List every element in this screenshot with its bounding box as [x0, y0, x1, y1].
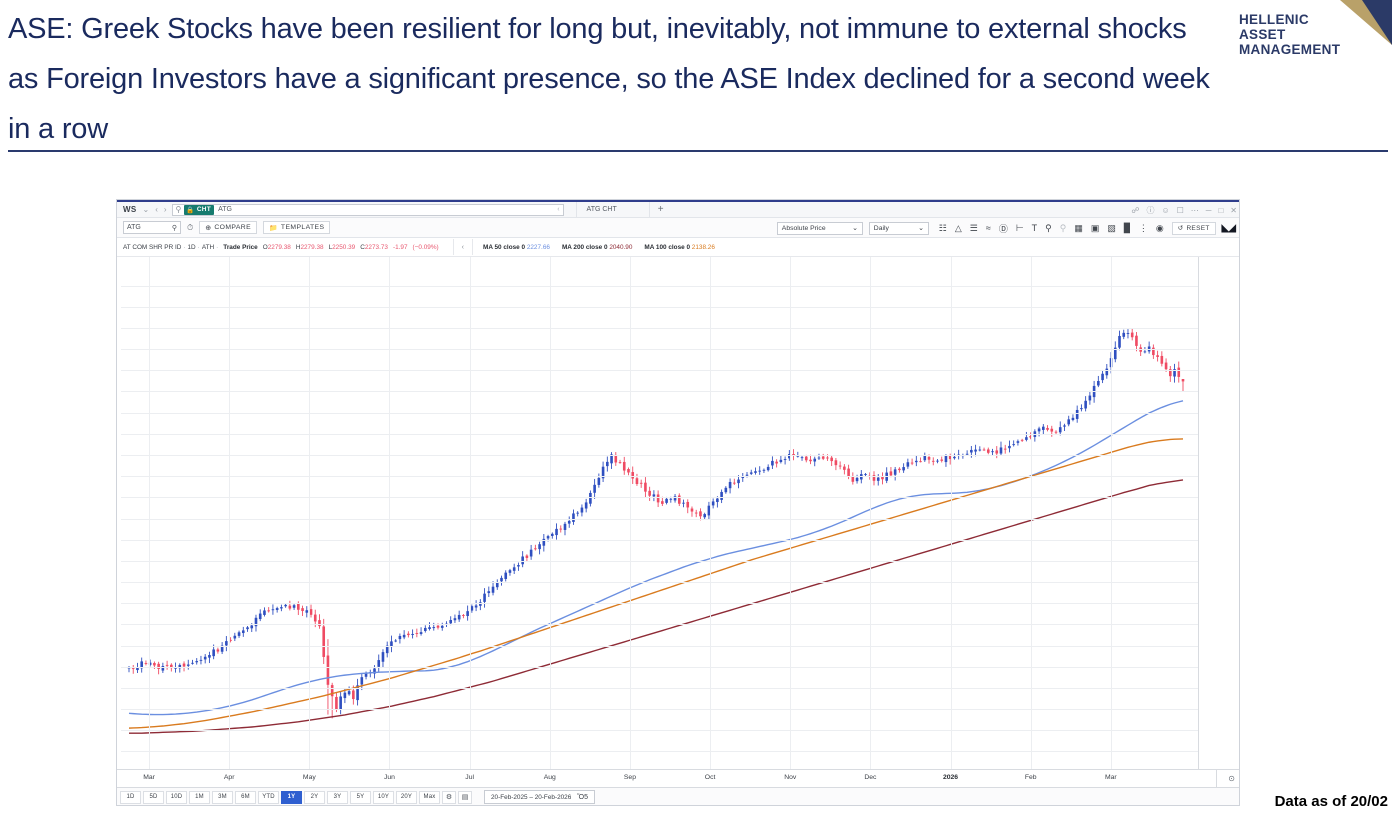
vertical-gridline: [1031, 257, 1032, 770]
logo-text: HELLENIC ASSET MANAGEMENT: [1239, 12, 1340, 57]
range-button-3y[interactable]: 3Y: [327, 791, 348, 804]
compare-button[interactable]: ⊕ COMPARE: [199, 221, 257, 234]
lock-icon: 🔒: [186, 206, 194, 214]
horizontal-gridline: [121, 497, 1199, 498]
range-button-max[interactable]: Max: [419, 791, 440, 804]
settings-icon[interactable]: ◉: [1152, 223, 1168, 234]
logo-wedge-navy-icon: [1362, 0, 1392, 45]
horizontal-gridline: [121, 688, 1199, 689]
time-tick-label: Jul: [465, 774, 474, 781]
time-axis[interactable]: ⊙ MarAprMayJunJulAugSepOctNovDec2026FebM…: [117, 769, 1240, 787]
close-value: C2273.73: [360, 244, 388, 251]
reset-icon: ↺: [1178, 224, 1184, 232]
chart-plot-area[interactable]: EUR ⌄ 2500.002450.002400.002350.002300.0…: [117, 256, 1240, 769]
address-caret-icon[interactable]: ‹: [557, 206, 559, 213]
candles-icon[interactable]: ☷: [935, 223, 951, 234]
link-icon[interactable]: ☍: [1131, 206, 1139, 215]
workspace-caret-icon[interactable]: ⌄: [140, 205, 153, 214]
horizontal-gridline: [121, 413, 1199, 414]
chart-svg: [121, 257, 1199, 770]
instrument-name: AT COM SHR PR ID: [123, 244, 181, 251]
help-icon[interactable]: ⓘ: [1146, 205, 1154, 216]
new-tab-button[interactable]: +: [649, 202, 672, 218]
forward-icon[interactable]: ›: [161, 205, 170, 214]
tab-atg-cht[interactable]: ATG CHT: [576, 202, 627, 218]
symbol-input[interactable]: ATG ⚲: [123, 221, 181, 234]
cht-badge-label: CHT: [197, 206, 211, 213]
logo: HELLENIC ASSET MANAGEMENT: [1235, 0, 1392, 62]
date-range-value: 20-Feb-2025 – 20-Feb-2026: [491, 794, 571, 801]
vertical-gridline: [870, 257, 871, 770]
range-button-1d[interactable]: 1D: [120, 791, 141, 804]
sep-3: ·: [216, 244, 218, 251]
slide-header: ASE: Greek Stocks have been resilient fo…: [0, 0, 1392, 155]
horizontal-gridline: [121, 370, 1199, 371]
calendar-layout-icon[interactable]: ▤: [458, 791, 472, 804]
vertical-gridline: [309, 257, 310, 770]
header-divider: [8, 150, 1388, 152]
chart-terminal-window: WS ⌄ ‹ › ⚲ 🔒 CHT ATG ‹ ATG CHT + ☍ ⓘ ☺ ☐…: [116, 199, 1240, 806]
data-as-of-note: Data as of 20/02: [1275, 793, 1388, 810]
zoom-in-icon[interactable]: ⚲: [1041, 223, 1056, 234]
frequency-value: Daily: [874, 225, 889, 232]
compare-icon: ⊕: [205, 224, 211, 232]
change-pct-value: (−0.09%): [413, 244, 439, 251]
interval-label: 1D: [188, 244, 196, 251]
sep-1: ·: [183, 244, 185, 251]
templates-button[interactable]: 📁 TEMPLATES: [263, 221, 330, 234]
chart-toolbar-right: Absolute Price ⌄ Daily ⌄ ☷ △ ☰ ≈ Ⓓ ⊢ T ⚲…: [777, 218, 1235, 238]
horizontal-gridline: [121, 751, 1199, 752]
address-symbol: ATG: [218, 206, 232, 213]
vertical-gridline: [389, 257, 390, 770]
range-button-5d[interactable]: 5D: [143, 791, 164, 804]
back-icon[interactable]: ‹: [152, 205, 161, 214]
ma200-legend: MA 200 close 0 2040.90: [562, 244, 632, 251]
window-controls: ☍ ⓘ ☺ ☐ ⋯ ─ □ ✕: [1131, 202, 1237, 218]
time-tick-label: Dec: [864, 774, 876, 781]
events-icon[interactable]: Ⓓ: [995, 222, 1012, 235]
horizontal-gridline: [121, 455, 1199, 456]
symbol-input-value: ATG: [127, 224, 141, 231]
workspace-label[interactable]: WS: [117, 205, 140, 214]
horizontal-gridline: [121, 540, 1199, 541]
reset-button[interactable]: ↺ RESET: [1172, 222, 1216, 235]
grid-icon[interactable]: ▦: [1070, 223, 1087, 234]
exchange-label: ATH: [202, 244, 214, 251]
search-icon: ⚲: [176, 205, 182, 214]
vertical-gridline: [470, 257, 471, 770]
range-button-3m[interactable]: 3M: [212, 791, 233, 804]
restore-icon[interactable]: □: [1218, 206, 1223, 215]
reset-label: RESET: [1186, 225, 1209, 232]
folder-icon: 📁: [269, 224, 278, 232]
time-tick-label: Apr: [224, 774, 235, 781]
time-tick-label: Aug: [544, 774, 556, 781]
range-button-20y[interactable]: 20Y: [396, 791, 417, 804]
vertical-gridline: [550, 257, 551, 770]
horizontal-gridline: [121, 519, 1199, 520]
time-tick-label: Sep: [624, 774, 636, 781]
open-value: O2279.38: [263, 244, 291, 251]
window-titlebar: WS ⌄ ‹ › ⚲ 🔒 CHT ATG ‹ ATG CHT + ☍ ⓘ ☺ ☐…: [117, 202, 1240, 218]
time-axis-divider: [1216, 770, 1217, 788]
horizontal-gridline: [121, 582, 1199, 583]
address-bar[interactable]: ⚲ 🔒 CHT ATG ‹: [172, 204, 564, 216]
time-tick-label: Jun: [384, 774, 395, 781]
frequency-select[interactable]: Daily ⌄: [869, 222, 929, 235]
text-icon[interactable]: T: [1028, 223, 1042, 233]
horizontal-gridline: [121, 286, 1199, 287]
sep-2: ·: [198, 244, 200, 251]
range-button-6m[interactable]: 6M: [235, 791, 256, 804]
chart-canvas[interactable]: [121, 257, 1199, 770]
horizontal-gridline: [121, 349, 1199, 350]
layers-icon[interactable]: ☰: [966, 223, 982, 234]
settings-icon[interactable]: ⚙: [442, 791, 456, 804]
range-button-10d[interactable]: 10D: [166, 791, 187, 804]
clock-icon[interactable]: ⏱: [187, 223, 193, 233]
ma-line-ma-100: [129, 439, 1183, 728]
compare-lines-icon[interactable]: ≈: [982, 223, 995, 233]
layout-icon[interactable]: ▣: [1087, 223, 1104, 234]
time-tick-label: Nov: [784, 774, 796, 781]
vertical-gridline: [951, 257, 952, 770]
compare-label: COMPARE: [214, 224, 251, 231]
symbol-search-icon[interactable]: ⚲: [172, 224, 177, 232]
change-value: -1.97: [393, 244, 408, 251]
align-icon[interactable]: ⊢: [1012, 223, 1028, 234]
low-value: L2250.39: [329, 244, 356, 251]
snapshot-icon[interactable]: ▧: [1103, 223, 1120, 234]
range-button-1m[interactable]: 1M: [189, 791, 210, 804]
vertical-gridline: [630, 257, 631, 770]
range-button-2y[interactable]: 2Y: [304, 791, 325, 804]
logo-line-1: HELLENIC: [1239, 12, 1340, 27]
templates-label: TEMPLATES: [281, 224, 325, 231]
horizontal-gridline: [121, 434, 1199, 435]
horizontal-gridline: [121, 391, 1199, 392]
time-tick-label: Mar: [1105, 774, 1117, 781]
vertical-gridline: [229, 257, 230, 770]
high-value: H2279.38: [296, 244, 324, 251]
tradingview-logo-icon: ◣◢: [1222, 223, 1235, 234]
chevron-down-icon: ⌄: [918, 224, 924, 232]
price-type-label: Trade Price: [223, 244, 257, 251]
horizontal-gridline: [121, 328, 1199, 329]
chevron-down-icon: ⌄: [852, 224, 858, 232]
more-vert-icon[interactable]: ⋮: [1135, 223, 1152, 234]
horizontal-gridline: [121, 624, 1199, 625]
vertical-gridline: [149, 257, 150, 770]
ma50-legend: MA 50 close 0 2227.66: [483, 244, 550, 251]
zoom-out-icon[interactable]: ⚲: [1056, 223, 1071, 234]
horizontal-gridline: [121, 667, 1199, 668]
go-to-latest-icon[interactable]: ⊙: [1228, 774, 1235, 783]
minimize-icon[interactable]: ─: [1206, 206, 1212, 215]
range-button-ytd[interactable]: YTD: [258, 791, 279, 804]
user-icon[interactable]: ☺: [1161, 206, 1169, 215]
window-icon[interactable]: ☐: [1177, 206, 1184, 215]
range-selector-bar: 1D5D10D1M3M6MYTD1Y2Y3Y5Y10Y20YMax⚙▤20-Fe…: [117, 787, 1240, 806]
more-icon[interactable]: ⋯: [1191, 206, 1199, 215]
range-button-10y[interactable]: 10Y: [373, 791, 394, 804]
stats-icon[interactable]: ▉: [1120, 223, 1135, 234]
cht-badge: 🔒 CHT: [184, 205, 214, 215]
indicators-icon[interactable]: △: [951, 223, 966, 234]
time-tick-label: 2026: [943, 774, 958, 781]
time-tick-label: Feb: [1025, 774, 1037, 781]
price-mode-value: Absolute Price: [782, 225, 826, 232]
price-mode-select[interactable]: Absolute Price ⌄: [777, 222, 863, 235]
time-tick-label: Oct: [705, 774, 716, 781]
page-title: ASE: Greek Stocks have been resilient fo…: [8, 4, 1223, 154]
range-button-5y[interactable]: 5Y: [350, 791, 371, 804]
horizontal-gridline: [121, 561, 1199, 562]
horizontal-gridline: [121, 307, 1199, 308]
close-icon[interactable]: ✕: [1230, 206, 1237, 215]
horizontal-gridline: [121, 646, 1199, 647]
vertical-gridline: [1111, 257, 1112, 770]
time-tick-label: May: [303, 774, 316, 781]
vertical-gridline: [710, 257, 711, 770]
time-tick-label: Mar: [143, 774, 155, 781]
horizontal-gridline: [121, 476, 1199, 477]
chart-info-legend: AT COM SHR PR ID · 1D · ATH · Trade Pric…: [117, 239, 1240, 255]
logo-line-3: MANAGEMENT: [1239, 42, 1340, 57]
horizontal-gridline: [121, 730, 1199, 731]
logo-line-2: ASSET: [1239, 27, 1340, 42]
range-button-1y[interactable]: 1Y: [281, 791, 302, 804]
vertical-gridline: [790, 257, 791, 770]
horizontal-gridline: [121, 709, 1199, 710]
legend-prev-button[interactable]: ‹: [453, 239, 473, 255]
horizontal-gridline: [121, 603, 1199, 604]
price-axis[interactable]: EUR ⌄ 2500.002450.002400.002350.002300.0…: [1200, 257, 1240, 770]
ma100-legend: MA 100 close 0 2138.26: [644, 244, 714, 251]
calendar-icon: Ὄ5: [577, 794, 588, 801]
date-range-input[interactable]: 20-Feb-2025 – 20-Feb-2026Ὄ5: [484, 790, 595, 804]
